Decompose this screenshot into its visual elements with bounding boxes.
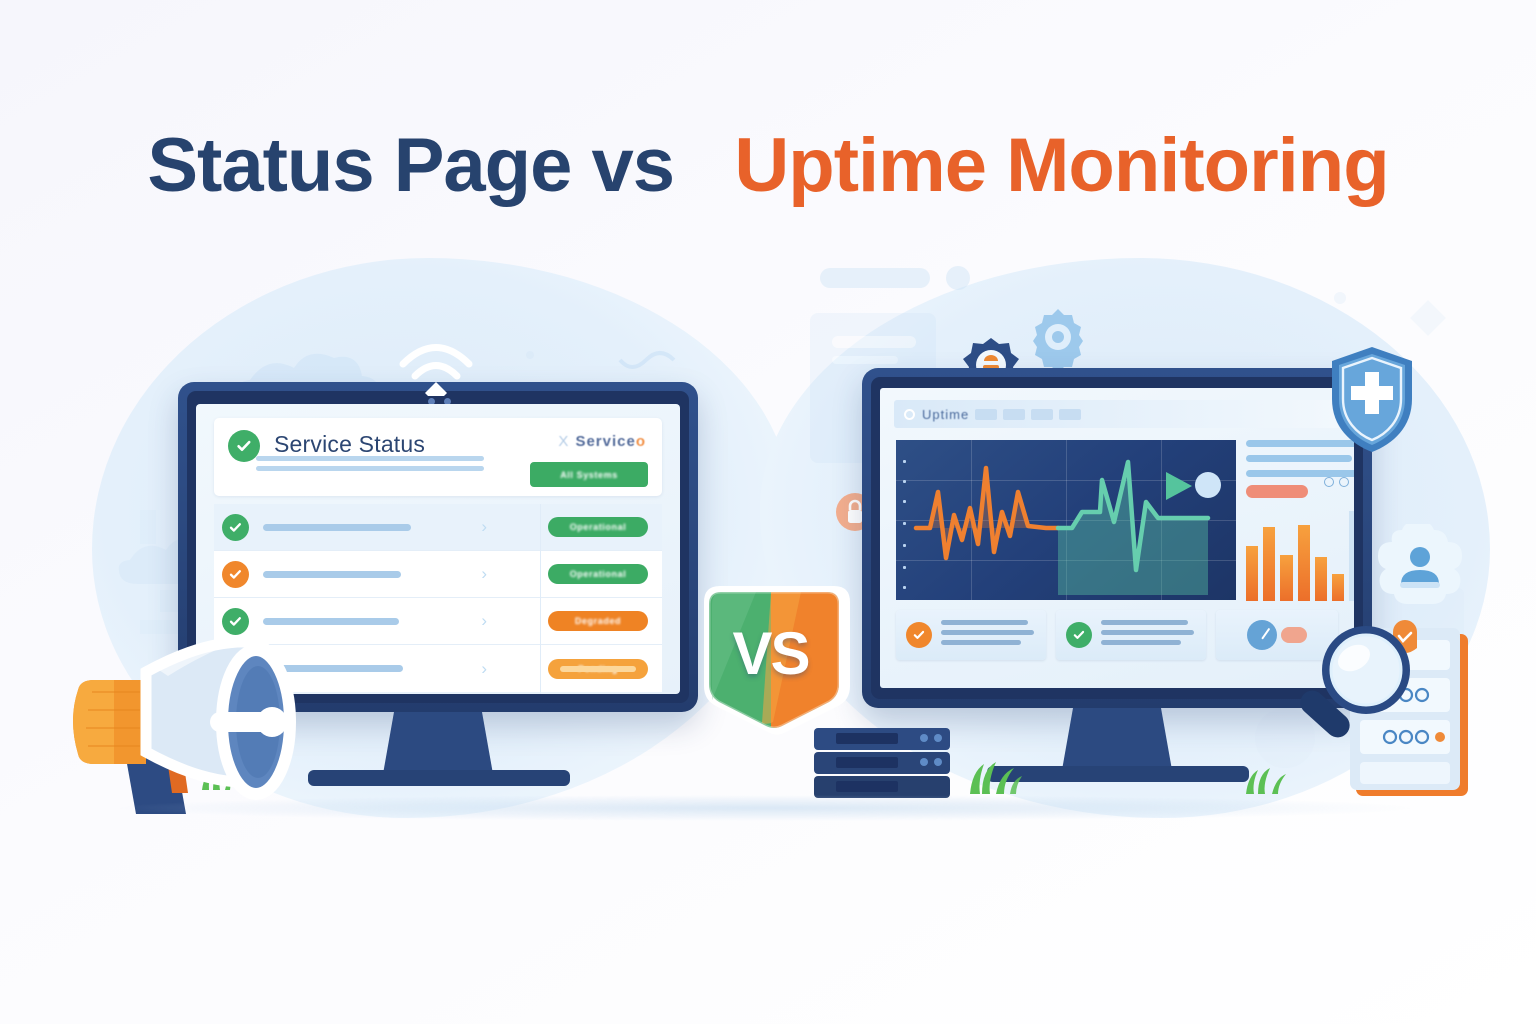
table-row[interactable]: › Operational: [214, 551, 662, 598]
chevron-right-icon: ›: [481, 517, 487, 537]
megaphone-icon: [60, 628, 330, 823]
status-badge: Pending: [548, 659, 648, 679]
check-circle-icon: [222, 561, 249, 588]
floor-shadow: [120, 795, 1410, 821]
list-item[interactable]: [1056, 610, 1206, 660]
list-item[interactable]: [896, 610, 1046, 660]
check-circle-icon: [906, 622, 932, 648]
vs-label: VS: [683, 570, 858, 736]
topbar-label: Uptime: [922, 407, 969, 422]
monitor-base: [308, 770, 570, 786]
brand-name: Service: [575, 433, 635, 450]
monitor-neck: [383, 712, 493, 774]
page-title: Status Page vs Uptime Monitoring: [0, 122, 1536, 209]
speed-gauge-icon: [1247, 620, 1277, 650]
status-cards: [896, 610, 1338, 660]
brand-logo: XServiceo: [558, 433, 646, 450]
alert-bar: [1246, 485, 1308, 498]
brand-suffix: o: [636, 433, 646, 450]
circle-icon: [904, 409, 915, 420]
grass-decoration: [1238, 760, 1298, 794]
monitoring-dashboard-screen: Uptime: [880, 388, 1354, 688]
column-divider: [540, 504, 541, 694]
title-part-one: Status Page vs: [147, 123, 674, 208]
header-placeholder-lines: [256, 456, 484, 476]
chart-plot: [896, 440, 1236, 600]
wifi-icon: [395, 336, 477, 396]
magnifying-glass-icon: [1290, 618, 1422, 760]
chevron-right-icon: ›: [481, 659, 487, 679]
grass-decoration: [960, 752, 1032, 794]
status-badge: Operational: [548, 564, 648, 584]
monitor-neck: [1062, 708, 1172, 770]
status-badge: Operational: [548, 517, 648, 537]
page-title: Service Status: [274, 431, 425, 458]
brand-x: X: [558, 433, 569, 450]
illustration-canvas: Service Status XServiceo All Systems: [0, 0, 1536, 1024]
response-time-chart: [896, 440, 1236, 600]
uptime-bar-chart: [1246, 506, 1354, 601]
user-icon: [1372, 524, 1468, 610]
all-systems-badge: All Systems: [530, 462, 648, 487]
vs-badge: VS: [683, 578, 858, 736]
status-dots: [1324, 477, 1354, 487]
table-row[interactable]: › Operational: [214, 504, 662, 551]
check-circle-icon: [222, 514, 249, 541]
gear-icon: [1024, 303, 1092, 371]
shield-cross-icon: [1327, 344, 1417, 456]
dashboard-topbar: Uptime: [894, 400, 1340, 428]
title-part-two: Uptime Monitoring: [734, 123, 1388, 208]
chevron-right-icon: ›: [481, 564, 487, 584]
status-badge: Degraded: [548, 611, 648, 631]
check-circle-icon: [1066, 622, 1092, 648]
chevron-right-icon: ›: [481, 611, 487, 631]
